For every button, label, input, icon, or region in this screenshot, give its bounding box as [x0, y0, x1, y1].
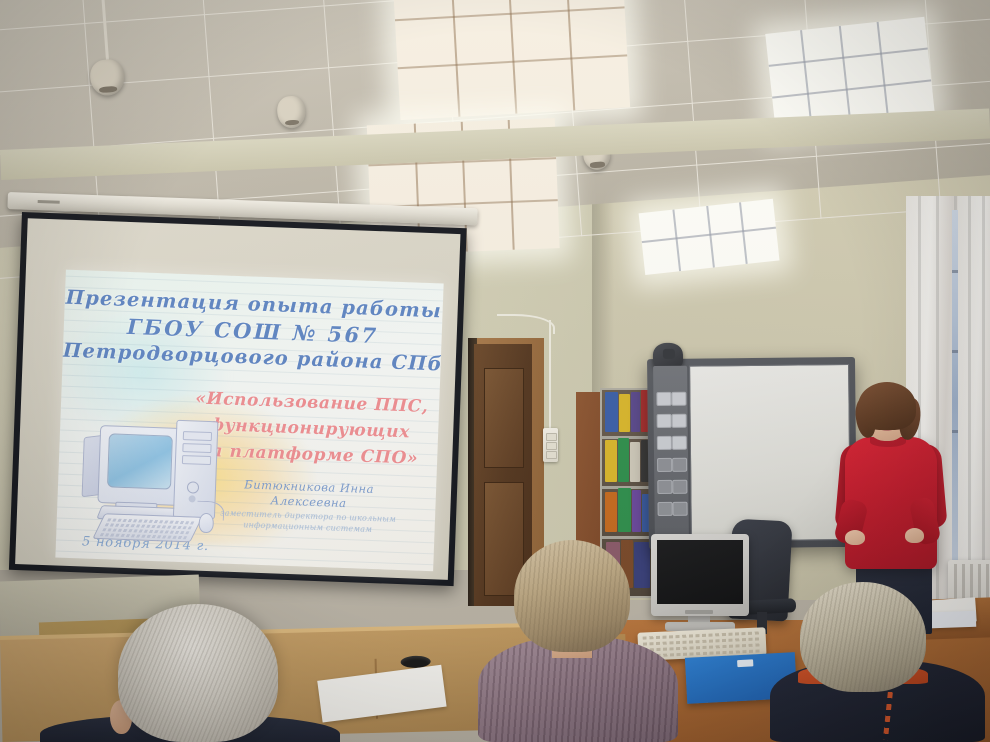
ceiling-tile — [208, 67, 333, 139]
crt-monitor-icon — [97, 425, 182, 506]
audience-member-center-hair — [514, 540, 630, 652]
presentation-slide: Презентация опыта работы ГБОУ СОШ № 567 … — [55, 270, 443, 572]
whiteboard-button[interactable] — [673, 502, 688, 516]
ceiling-tile — [0, 23, 90, 95]
whiteboard-button[interactable] — [657, 458, 672, 472]
whiteboard-button[interactable] — [672, 436, 687, 450]
whiteboard-button[interactable] — [657, 436, 672, 450]
ceiling-tile — [927, 14, 990, 86]
whiteboard-button[interactable] — [671, 392, 686, 406]
audience-member-front-left-head — [118, 604, 278, 742]
audience-member-right-hair — [800, 582, 926, 692]
paper-sheet[interactable] — [317, 665, 446, 723]
desktop-computer-illustration — [76, 408, 231, 543]
monitor-screen — [657, 540, 743, 604]
monitor-brand-mark — [685, 610, 713, 614]
whiteboard-button[interactable] — [672, 414, 687, 428]
whiteboard-button[interactable] — [672, 458, 687, 472]
whiteboard-button-panel[interactable] — [653, 366, 689, 542]
whiteboard-button[interactable] — [657, 414, 672, 428]
projection-screen-frame: Презентация опыта работы ГБОУ СОШ № 567 … — [9, 212, 467, 586]
presenter-hair — [858, 382, 916, 430]
wall-cable — [549, 320, 551, 430]
wall-switch-plate[interactable] — [543, 428, 558, 462]
whiteboard-button[interactable] — [672, 480, 687, 494]
lcd-monitor[interactable] — [651, 534, 749, 616]
keyboard-icon — [92, 513, 202, 542]
presenter-left-hand — [845, 530, 865, 545]
window-curtain-right — [958, 196, 990, 616]
slide-rule-line — [56, 550, 434, 565]
whiteboard-button[interactable] — [656, 392, 671, 406]
whiteboard-surface[interactable] — [689, 364, 851, 542]
mouse-icon — [198, 513, 214, 534]
whiteboard-button[interactable] — [658, 502, 673, 516]
projection-screen-surface: Презентация опыта работы ГБОУ СОШ № 567 … — [15, 218, 460, 580]
ceiling-tile — [204, 5, 329, 77]
ceiling-light-panel-1 — [390, 0, 630, 120]
whiteboard-button[interactable] — [657, 480, 672, 494]
classroom-photo-scene: Презентация опыта работы ГБОУ СОШ № 567 … — [0, 0, 990, 742]
presenter-right-hand — [905, 528, 924, 543]
